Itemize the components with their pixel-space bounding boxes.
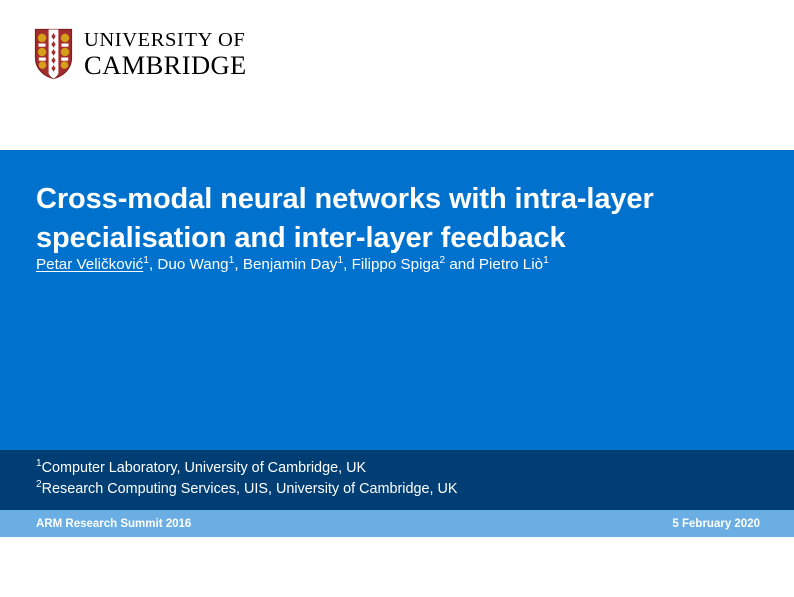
co-author-name: Benjamin Day bbox=[243, 256, 338, 273]
co-author-list: , Duo Wang1, Benjamin Day1, Filippo Spig… bbox=[149, 256, 549, 273]
footer-event-label: ARM Research Summit 2016 bbox=[36, 510, 191, 537]
slide-header: UNIVERSITY OF CAMBRIDGE bbox=[0, 0, 794, 150]
footer-bar: ARM Research Summit 2016 5 February 2020 bbox=[0, 510, 794, 537]
university-logo: UNIVERSITY OF CAMBRIDGE bbox=[34, 28, 247, 80]
affiliation-text: Computer Laboratory, University of Cambr… bbox=[42, 460, 366, 476]
university-wordmark: UNIVERSITY OF CAMBRIDGE bbox=[84, 30, 247, 79]
co-author-marker: 1 bbox=[543, 255, 549, 266]
co-author-marker: 1 bbox=[229, 255, 235, 266]
author-list: Petar Veličković1, Duo Wang1, Benjamin D… bbox=[36, 255, 766, 275]
co-author-marker: 1 bbox=[337, 255, 343, 266]
co-author-name: Pietro Liò bbox=[479, 256, 543, 273]
affiliation-text: Research Computing Services, UIS, Univer… bbox=[42, 481, 458, 497]
co-author-name: Filippo Spiga bbox=[352, 256, 440, 273]
affiliations-band: 1Computer Laboratory, University of Camb… bbox=[0, 450, 794, 510]
slide-title: Cross-modal neural networks with intra-l… bbox=[36, 180, 756, 258]
bottom-margin bbox=[0, 537, 794, 597]
cambridge-crest-icon bbox=[34, 28, 73, 80]
footer-date-label: 5 February 2020 bbox=[672, 510, 760, 537]
affiliation-line: 1Computer Laboratory, University of Camb… bbox=[36, 458, 458, 479]
presentation-slide: UNIVERSITY OF CAMBRIDGE Cross-modal neur… bbox=[0, 0, 794, 597]
co-author-name: Duo Wang bbox=[157, 256, 228, 273]
wordmark-line-1: UNIVERSITY OF bbox=[84, 30, 247, 51]
affiliations-list: 1Computer Laboratory, University of Camb… bbox=[36, 458, 458, 500]
affiliation-line: 2Research Computing Services, UIS, Unive… bbox=[36, 479, 458, 500]
wordmark-line-2: CAMBRIDGE bbox=[84, 52, 247, 79]
co-author-marker: 2 bbox=[439, 255, 445, 266]
presenting-author: Petar Veličković bbox=[36, 256, 143, 273]
